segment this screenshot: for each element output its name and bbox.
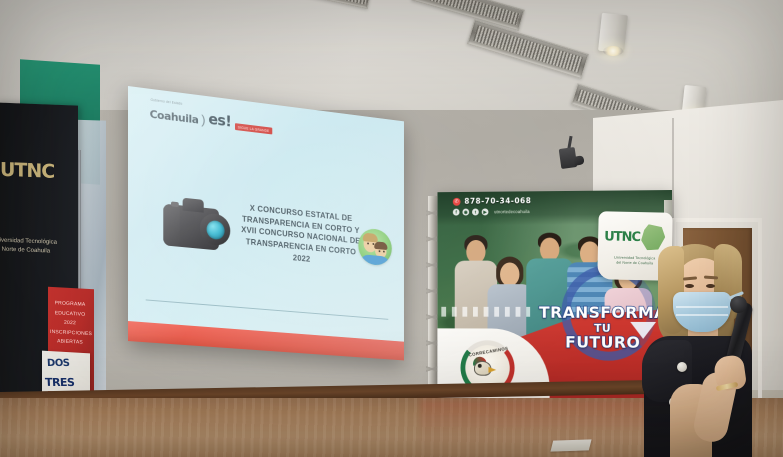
shirt-button-1 xyxy=(677,362,687,372)
projection-screen: Gobierno del Estado Coahuila ) es! SIGUE… xyxy=(128,86,404,360)
presenter-speaker xyxy=(636,244,783,457)
family-mascot-icon xyxy=(358,227,391,266)
mascot-hair-adult xyxy=(363,233,378,243)
banner-social-row: f ◉ t ▶ utnortedecoahuila xyxy=(453,208,530,215)
logo-badge: SIGUE LA GRANDE xyxy=(235,123,272,134)
mascot-bird-eye xyxy=(478,364,482,368)
logo-es-word: es! xyxy=(208,110,231,130)
student-2-head xyxy=(500,262,519,286)
banner-phone-number: 878-70-34-068 xyxy=(464,196,531,205)
mascot-hair-child xyxy=(374,241,387,250)
ceiling-downlight-glow-1 xyxy=(603,46,623,56)
dslr-camera-icon xyxy=(163,194,236,256)
left-banner-word-tres: TRES xyxy=(45,376,88,389)
instagram-icon[interactable]: ◉ xyxy=(462,209,469,216)
logo-gobierno-label: Gobierno del Estado xyxy=(151,98,183,106)
mask-fold-2 xyxy=(676,314,728,316)
presenter-eye-right xyxy=(706,284,715,288)
left-banner-word-dos: DOS xyxy=(47,358,84,369)
utnc-mark-left: UTNC xyxy=(0,159,54,183)
logo-coahuila-word: Coahuila xyxy=(150,108,199,127)
banner-social-handle: utnortedecoahuila xyxy=(494,209,530,214)
presentation-slide: Gobierno del Estado Coahuila ) es! SIGUE… xyxy=(128,86,404,360)
banner-dot-strip xyxy=(441,307,530,317)
mask-fold-1 xyxy=(676,306,728,308)
slide-title: X CONCURSO ESTATAL DE TRANSPARENCIA EN C… xyxy=(232,201,369,270)
left-banner-red-text: PROGRAMA EDUCATIVO 2022 INSCRIPCIONES AB… xyxy=(50,299,90,349)
mascot-eye-b1 xyxy=(379,250,381,252)
presenter-eye-left xyxy=(685,284,694,288)
camera-shutter-button xyxy=(171,201,179,207)
banner-stand-lattice xyxy=(426,200,438,396)
utnc-card-mark: UTNC xyxy=(604,229,640,245)
mascot-eye-b2 xyxy=(383,251,385,253)
paper-sheet xyxy=(550,439,591,451)
logo-paren-glyph: ) xyxy=(201,112,205,127)
mascot-bird-beak xyxy=(488,367,496,373)
conference-room-photo: Gobierno del Estado Coahuila ) es! SIGUE… xyxy=(0,0,783,457)
mascot-eye-a1 xyxy=(367,242,369,244)
camera-viewfinder-hump xyxy=(183,198,204,213)
youtube-icon[interactable]: ▶ xyxy=(482,208,489,215)
phone-icon: ✆ xyxy=(453,198,461,206)
twitter-icon[interactable]: t xyxy=(472,209,479,216)
coahuila-es-logo: Gobierno del Estado Coahuila ) es! SIGUE… xyxy=(150,103,273,136)
camera-grip xyxy=(163,204,179,247)
facebook-icon[interactable]: f xyxy=(453,209,460,216)
left-banner-org-name: Universidad Tecnológica del Norte de Coa… xyxy=(0,236,84,258)
left-banner-utnc-logo: UTNC xyxy=(0,159,66,218)
slide-divider-line xyxy=(146,299,389,319)
